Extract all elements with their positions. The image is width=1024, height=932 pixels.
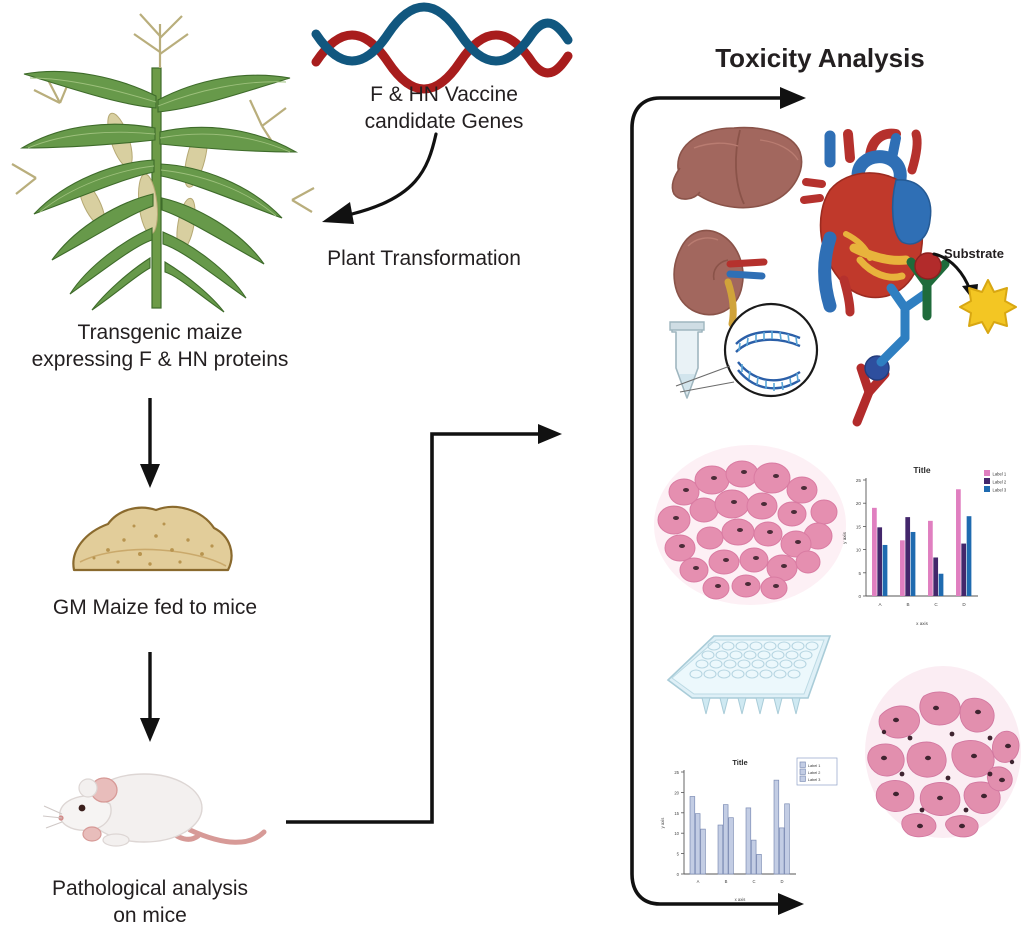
bar bbox=[757, 854, 762, 874]
y-axis-label: y axis bbox=[660, 818, 665, 829]
bar bbox=[939, 574, 944, 596]
legend-label: Label 1 bbox=[993, 471, 1007, 476]
pathology-line-1: Pathological analysis bbox=[0, 876, 300, 903]
bar bbox=[883, 545, 888, 596]
dna-double-helix-icon bbox=[312, 22, 572, 74]
y-tick-label: 10 bbox=[856, 548, 862, 553]
maize-plant-icon bbox=[0, 8, 320, 318]
figure-canvas: Transgenic maize expressing F & HN prote… bbox=[0, 0, 1024, 932]
label-gm-maize-fed: GM Maize fed to mice bbox=[0, 595, 310, 622]
legend-label: Label 3 bbox=[808, 778, 820, 782]
x-tick-label: C bbox=[934, 602, 938, 607]
legend-swatch bbox=[800, 769, 805, 774]
chart-title: Title bbox=[913, 465, 931, 475]
x-tick-label: B bbox=[725, 879, 728, 884]
legend-swatch bbox=[984, 470, 990, 476]
toxicity-analysis-title: Toxicity Analysis bbox=[715, 43, 925, 73]
y-tick-label: 5 bbox=[677, 852, 680, 857]
bar bbox=[746, 808, 751, 874]
laboratory-mouse-icon bbox=[40, 750, 270, 860]
legend-label: Label 3 bbox=[993, 487, 1007, 492]
maize-feed-pile-icon bbox=[60, 492, 240, 582]
bar bbox=[961, 544, 966, 596]
arrow-feed-to-mouse bbox=[128, 652, 198, 744]
legend-label: Label 2 bbox=[808, 771, 820, 775]
chart-top: Title0510152025y axisABCDx axisLabel 1La… bbox=[832, 458, 1024, 626]
y-tick-label: 0 bbox=[858, 594, 861, 599]
legend-swatch bbox=[984, 478, 990, 484]
elbow-arrow-mouse-to-analysis bbox=[280, 418, 580, 838]
x-tick-label: D bbox=[780, 879, 783, 884]
legend-swatch bbox=[800, 776, 805, 781]
chart-legend: Label 1Label 2Label 3 bbox=[797, 758, 837, 785]
legend-swatch bbox=[800, 762, 805, 767]
bar bbox=[911, 532, 916, 596]
y-tick-label: 25 bbox=[856, 478, 862, 483]
pathology-line-2: on mice bbox=[0, 903, 300, 930]
x-tick-label: C bbox=[752, 879, 755, 884]
bar bbox=[900, 540, 905, 596]
bar bbox=[872, 508, 877, 596]
x-tick-label: B bbox=[906, 602, 909, 607]
substrate-star-icon bbox=[960, 278, 1016, 334]
bar bbox=[956, 489, 961, 596]
bar bbox=[967, 516, 972, 596]
bar bbox=[718, 825, 723, 874]
label-substrate: Substrate bbox=[944, 246, 1024, 263]
dna-magnifier-circle-icon bbox=[716, 300, 826, 412]
liver-organ-icon bbox=[668, 120, 808, 216]
y-tick-label: 0 bbox=[677, 872, 680, 877]
chart-top: Title0510152025y axisABCDx axisLabel 1La… bbox=[832, 458, 1024, 626]
label-transgenic-maize: Transgenic maize expressing F & HN prote… bbox=[0, 320, 320, 374]
bar bbox=[729, 818, 734, 874]
label-plant-transformation: Plant Transformation bbox=[288, 246, 560, 273]
substrate-text: Substrate bbox=[944, 246, 1004, 261]
y-tick-label: 20 bbox=[674, 790, 679, 795]
y-tick-label: 20 bbox=[856, 501, 862, 506]
chart-title: Title bbox=[732, 758, 747, 767]
bar bbox=[690, 796, 695, 874]
bar bbox=[933, 557, 938, 596]
gm-maize-text: GM Maize fed to mice bbox=[0, 595, 310, 622]
x-tick-label: A bbox=[697, 879, 700, 884]
curved-arrow-genes-to-plant bbox=[300, 130, 480, 240]
legend-label: Label 1 bbox=[808, 764, 820, 768]
histology-tissue-section-icon bbox=[650, 440, 850, 610]
bar bbox=[785, 804, 790, 874]
page-title: Toxicity Analysis bbox=[640, 42, 1000, 75]
bar bbox=[779, 828, 784, 874]
bar bbox=[723, 805, 728, 874]
legend-swatch bbox=[984, 486, 990, 492]
transgenic-line-1: Transgenic maize bbox=[0, 320, 320, 347]
x-axis-label: x axis bbox=[735, 897, 746, 902]
genes-line-1: F & HN Vaccine bbox=[312, 82, 576, 109]
y-tick-label: 10 bbox=[674, 831, 679, 836]
legend-label: Label 2 bbox=[993, 479, 1007, 484]
x-tick-label: A bbox=[878, 602, 882, 607]
label-pathological-analysis: Pathological analysis on mice bbox=[0, 876, 300, 930]
bar bbox=[701, 829, 706, 874]
chart-bottom: Title0510152025y axisABCDx axisLabel 1La… bbox=[652, 752, 842, 902]
bar bbox=[751, 840, 756, 874]
bar bbox=[905, 517, 910, 596]
bar bbox=[774, 780, 779, 874]
bar bbox=[928, 521, 933, 596]
96-well-microplate-icon bbox=[658, 628, 838, 738]
transgenic-line-2: expressing F & HN proteins bbox=[0, 347, 320, 374]
x-axis-label: x axis bbox=[916, 621, 928, 626]
chart-bottom: Title0510152025y axisABCDx axisLabel 1La… bbox=[652, 752, 842, 902]
x-tick-label: D bbox=[962, 602, 966, 607]
y-tick-label: 25 bbox=[674, 770, 679, 775]
bar bbox=[695, 814, 700, 874]
arrow-plant-to-feed bbox=[128, 398, 198, 490]
y-tick-label: 15 bbox=[856, 524, 862, 529]
plant-transformation-text: Plant Transformation bbox=[288, 246, 560, 273]
muscle-tissue-section-icon bbox=[862, 662, 1024, 842]
chart-legend: Label 1Label 2Label 3 bbox=[984, 470, 1007, 492]
y-axis-label: y axis bbox=[842, 531, 847, 543]
y-tick-label: 5 bbox=[858, 571, 861, 576]
bar bbox=[877, 527, 882, 596]
y-tick-label: 15 bbox=[674, 811, 679, 816]
label-vaccine-genes: F & HN Vaccine candidate Genes bbox=[312, 82, 576, 136]
